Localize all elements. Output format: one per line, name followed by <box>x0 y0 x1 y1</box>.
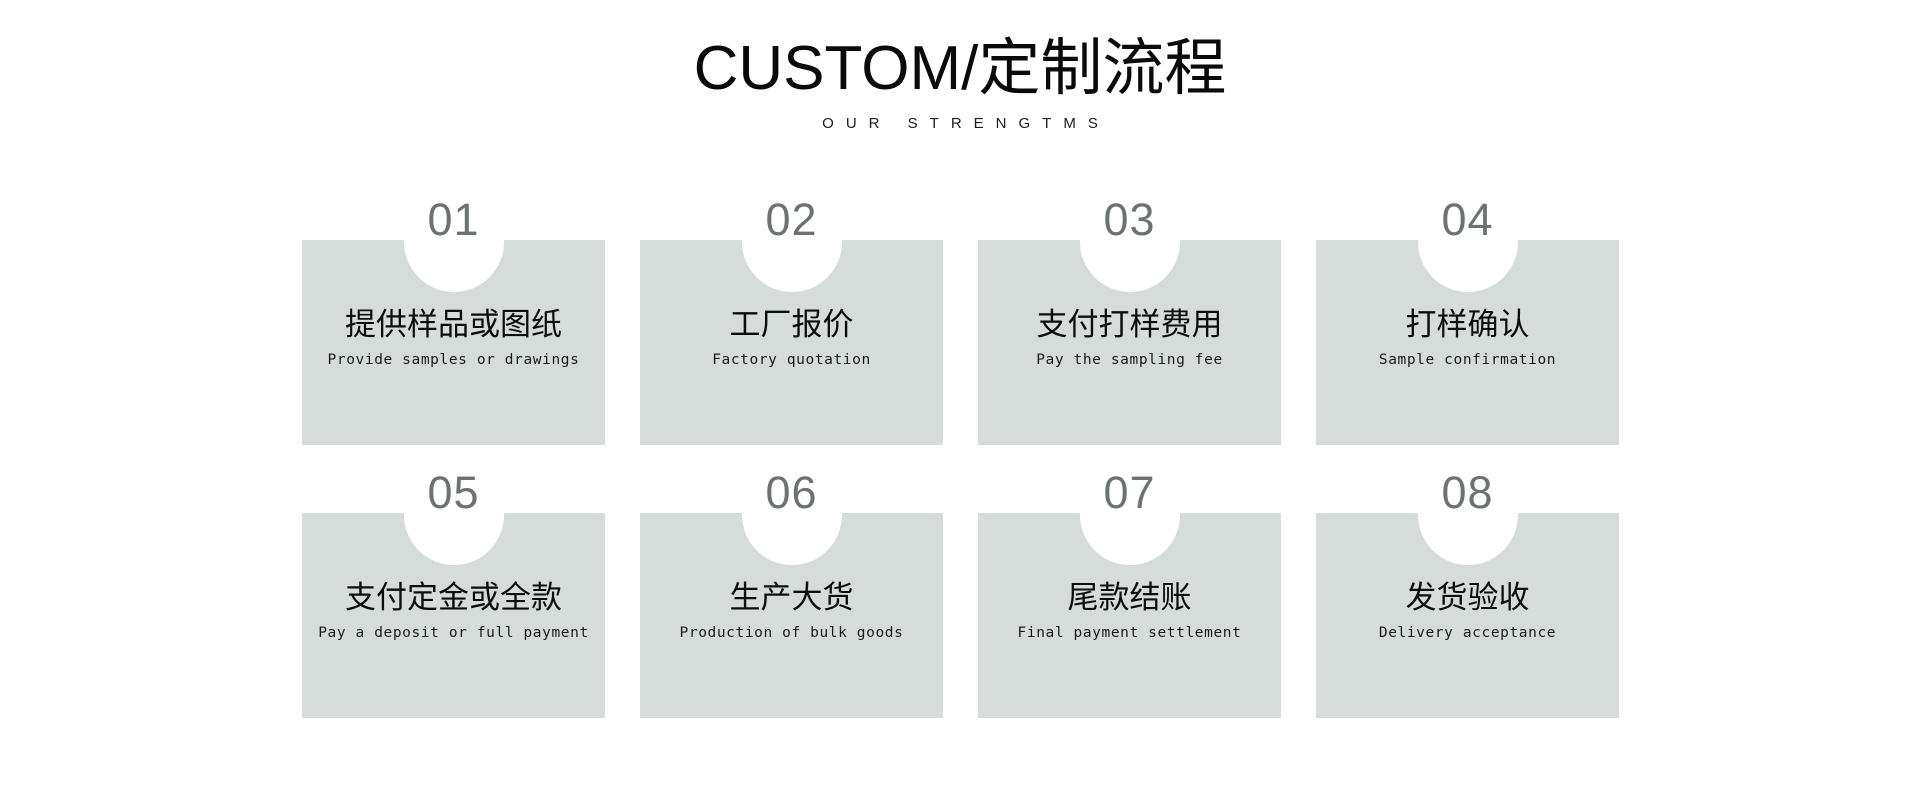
step-title-cn: 发货验收 <box>1406 579 1530 616</box>
page-title: CUSTOM/定制流程 <box>0 36 1920 103</box>
step-title-cn: 提供样品或图纸 <box>345 306 562 343</box>
step-title-en: Delivery acceptance <box>1379 625 1556 642</box>
steps-row-1: 01 提供样品或图纸 Provide samples or drawings 0… <box>302 240 1656 445</box>
step-title-en: Factory quotation <box>712 352 871 369</box>
step-card-08[interactable]: 08 发货验收 Delivery acceptance <box>1316 513 1619 718</box>
step-badge-08: 08 <box>1418 465 1518 565</box>
step-badge-06: 06 <box>742 465 842 565</box>
step-number: 04 <box>1441 192 1493 242</box>
step-title-en: Final payment settlement <box>1018 625 1242 642</box>
step-card-07[interactable]: 07 尾款结账 Final payment settlement <box>978 513 1281 718</box>
custom-process-page: CUSTOM/定制流程 OUR STRENGTMS 01 提供样品或图纸 Pro… <box>0 0 1920 800</box>
step-badge-02: 02 <box>742 192 842 292</box>
step-number: 03 <box>1103 192 1155 242</box>
step-badge-04: 04 <box>1418 192 1518 292</box>
step-title-en: Pay a deposit or full payment <box>318 625 589 642</box>
step-title-cn: 尾款结账 <box>1068 579 1192 616</box>
step-badge-01: 01 <box>404 192 504 292</box>
step-title-cn: 打样确认 <box>1406 306 1530 343</box>
step-card-04[interactable]: 04 打样确认 Sample confirmation <box>1316 240 1619 445</box>
step-title-en: Pay the sampling fee <box>1036 352 1223 369</box>
step-card-03[interactable]: 03 支付打样费用 Pay the sampling fee <box>978 240 1281 445</box>
step-title-en: Provide samples or drawings <box>328 352 580 369</box>
step-card-01[interactable]: 01 提供样品或图纸 Provide samples or drawings <box>302 240 605 445</box>
step-number: 02 <box>765 192 817 242</box>
step-title-cn: 生产大货 <box>730 579 854 616</box>
step-number: 08 <box>1441 465 1493 515</box>
step-card-06[interactable]: 06 生产大货 Production of bulk goods <box>640 513 943 718</box>
step-number: 05 <box>427 465 479 515</box>
step-title-en: Production of bulk goods <box>680 625 904 642</box>
step-badge-07: 07 <box>1080 465 1180 565</box>
step-badge-03: 03 <box>1080 192 1180 292</box>
step-badge-05: 05 <box>404 465 504 565</box>
page-header: CUSTOM/定制流程 OUR STRENGTMS <box>0 36 1920 132</box>
step-number: 07 <box>1103 465 1155 515</box>
step-title-cn: 支付定金或全款 <box>345 579 562 616</box>
step-title-en: Sample confirmation <box>1379 352 1556 369</box>
step-card-05[interactable]: 05 支付定金或全款 Pay a deposit or full payment <box>302 513 605 718</box>
steps-row-2: 05 支付定金或全款 Pay a deposit or full payment… <box>302 513 1656 718</box>
step-title-cn: 支付打样费用 <box>1037 306 1223 343</box>
step-title-cn: 工厂报价 <box>730 306 854 343</box>
page-subtitle: OUR STRENGTMS <box>0 115 1920 132</box>
steps-grid: 01 提供样品或图纸 Provide samples or drawings 0… <box>302 240 1656 718</box>
step-card-02[interactable]: 02 工厂报价 Factory quotation <box>640 240 943 445</box>
step-number: 06 <box>765 465 817 515</box>
step-number: 01 <box>427 192 479 242</box>
